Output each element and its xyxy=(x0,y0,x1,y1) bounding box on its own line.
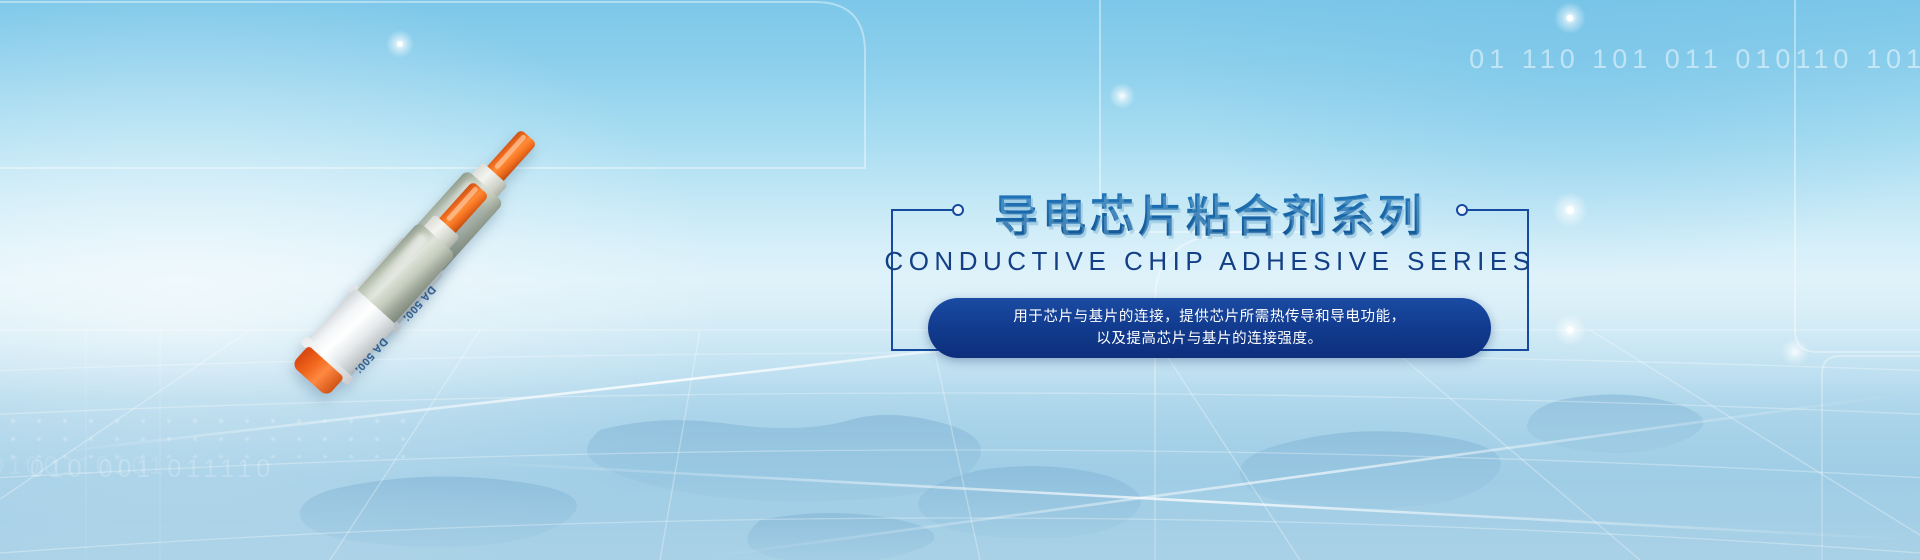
description-line-2: 以及提高芯片与基片的连接强度。 xyxy=(1013,328,1406,350)
perspective-floor xyxy=(0,330,1920,560)
world-map-silhouette xyxy=(300,394,1703,560)
product-image-syringes: DA 5002X 10 ml DA 5002X C90C0C30 xyxy=(320,95,660,405)
binary-text-bottom: 010 001 011110 xyxy=(30,455,275,484)
product-banner: 01 110 101 011 010110 101 0100110101 010… xyxy=(0,0,1920,560)
page-subtitle: CONDUCTIVE CHIP ADHESIVE SERIES xyxy=(880,246,1540,277)
description-box: 用于芯片与基片的连接，提供芯片所需热传导和导电功能， 以及提高芯片与基片的连接强… xyxy=(928,298,1491,358)
page-title: 导电芯片粘合剂系列 xyxy=(880,180,1540,244)
description-text: 用于芯片与基片的连接，提供芯片所需热传导和导电功能， 以及提高芯片与基片的连接强… xyxy=(987,306,1432,350)
syringe-label-code: DA 5002X xyxy=(345,335,390,374)
binary-text-top: 01 110 101 011 010110 101 xyxy=(1469,44,1920,75)
banner-text-block: 导电芯片粘合剂系列 CONDUCTIVE CHIP ADHESIVE SERIE… xyxy=(880,200,1540,360)
syringe-front: DA 5002X C90C0C30 xyxy=(289,166,507,397)
description-line-1: 用于芯片与基片的连接，提供芯片所需热传导和导电功能， xyxy=(1013,306,1406,328)
